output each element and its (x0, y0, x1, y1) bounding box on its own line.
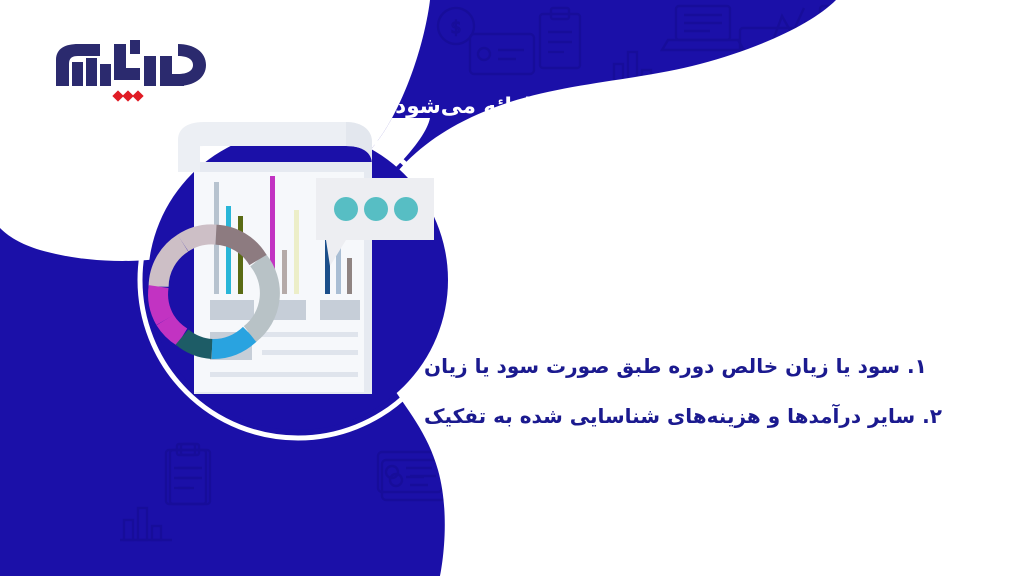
logo-mark (48, 38, 218, 110)
speech-dot (364, 197, 388, 221)
report-types-list: ۱. سود یا زیان خالص دوره طبق صورت سود یا… (424, 352, 984, 430)
speech-dot (334, 197, 358, 221)
speech-dot (394, 197, 418, 221)
page-title: گزارش صورت سود و زیان جامع در دو نوع ارا… (424, 92, 984, 121)
list-item: ۲. سایر درآمدها و هزینه‌های شناسایی شده … (424, 402, 984, 430)
list-item: ۱. سود یا زیان خالص دوره طبق صورت سود یا… (424, 352, 984, 380)
brand-logo[interactable] (48, 38, 218, 110)
logo-accent-diamonds (112, 90, 143, 101)
slide-canvas: 100 $ 1 2 (0, 0, 1024, 576)
